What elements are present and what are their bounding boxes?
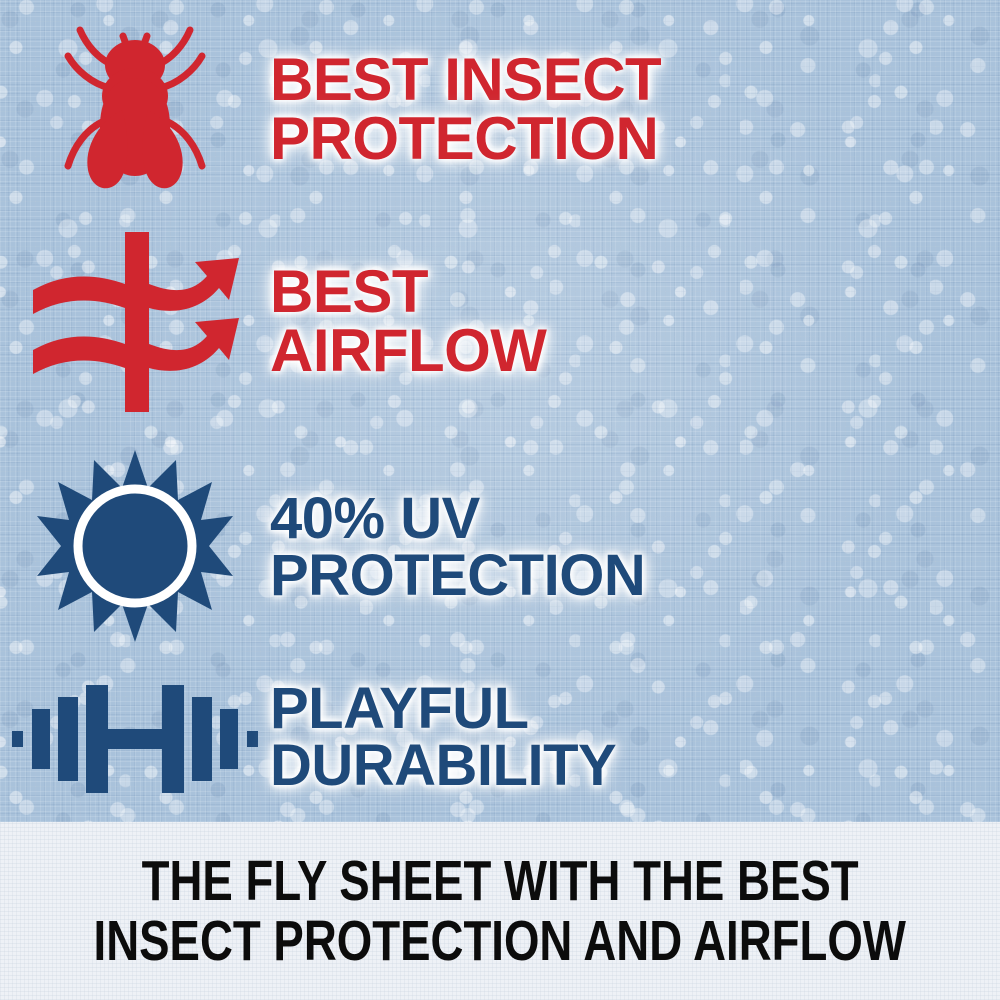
caption-line-1: THE FLY SHEET WITH THE BEST: [142, 852, 859, 910]
sun-icon: [35, 448, 235, 648]
dumbbell-icon: [10, 673, 260, 803]
sun-icon-cell: [0, 448, 270, 648]
uv-protection-text-cell: 40% UV PROTECTION: [270, 491, 1000, 605]
feature-row-airflow: BEST AIRFLOW: [0, 222, 1000, 422]
feature-headline-durability: PLAYFUL DURABILITY: [270, 681, 1000, 795]
durability-text-cell: PLAYFUL DURABILITY: [270, 681, 1000, 795]
product-feature-infographic: BEST INSECT PROTECTION: [0, 0, 1000, 1000]
fly-icon: [50, 18, 220, 203]
caption-band: THE FLY SHEET WITH THE BEST INSECT PROTE…: [0, 822, 1000, 1000]
dumbbell-icon-cell: [0, 673, 270, 803]
caption-line-2: INSECT PROTECTION AND AIRFLOW: [94, 912, 906, 970]
feature-row-durability: PLAYFUL DURABILITY: [0, 655, 1000, 820]
feature-headline-airflow: BEST AIRFLOW: [270, 263, 1000, 381]
feature-headline-uv-protection: 40% UV PROTECTION: [270, 491, 1000, 605]
insect-protection-text-cell: BEST INSECT PROTECTION: [270, 51, 1000, 169]
fly-icon-cell: [0, 18, 270, 203]
feature-headline-insect-protection: BEST INSECT PROTECTION: [270, 51, 1000, 169]
airflow-icon-cell: [0, 232, 270, 412]
feature-row-insect-protection: BEST INSECT PROTECTION: [0, 10, 1000, 210]
airflow-arrows-icon: [25, 232, 245, 412]
airflow-text-cell: BEST AIRFLOW: [270, 263, 1000, 381]
feature-row-uv-protection: 40% UV PROTECTION: [0, 440, 1000, 655]
